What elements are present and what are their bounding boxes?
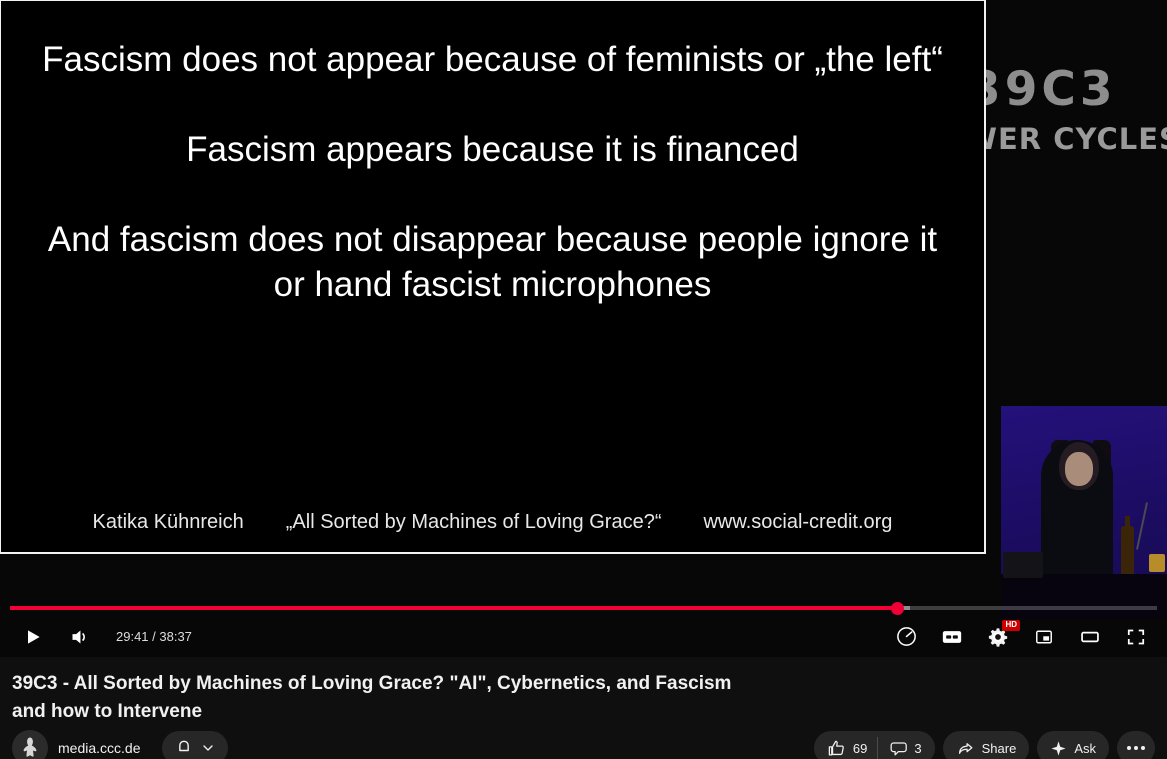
theater-mode-icon[interactable] — [1067, 616, 1113, 657]
ask-button[interactable]: Ask — [1037, 731, 1109, 759]
slide-footer-talk-title: „All Sorted by Machines of Loving Grace?… — [286, 511, 662, 534]
conference-motto: WER CYCLES — [965, 122, 1167, 156]
comment-bubble-icon[interactable] — [888, 739, 907, 758]
speaker-face — [1065, 452, 1093, 486]
slide-footer: Katika Kühnreich „All Sorted by Machines… — [1, 511, 984, 534]
bottle — [1121, 526, 1134, 578]
time-display: 29:41 / 38:37 — [102, 629, 202, 644]
hd-quality-badge: HD — [1002, 620, 1020, 631]
like-dislike-group[interactable]: 69 3 — [814, 731, 935, 759]
notification-bell-icon — [174, 738, 194, 758]
desk-badge — [1149, 554, 1165, 572]
video-player[interactable]: 39C3 WER CYCLES Fascism does not appear … — [0, 0, 1167, 657]
slide-paragraph-1: Fascism does not appear because of femin… — [41, 37, 944, 82]
progress-track[interactable] — [10, 606, 1157, 610]
captions-icon[interactable] — [929, 616, 975, 657]
more-actions-button[interactable] — [1117, 731, 1155, 759]
progress-bar[interactable] — [0, 600, 1167, 616]
settings-gear-icon[interactable]: HD — [975, 616, 1021, 657]
channel-info[interactable]: media.ccc.de — [12, 730, 140, 759]
fullscreen-icon[interactable] — [1113, 616, 1159, 657]
progress-played — [10, 606, 897, 610]
player-controls-left: 29:41 / 38:37 — [10, 616, 202, 657]
conference-logo-39c3: 39C3 — [968, 62, 1117, 117]
video-metadata-section: 39C3 - All Sorted by Machines of Loving … — [0, 662, 1167, 726]
presentation-slide: Fascism does not appear because of femin… — [0, 0, 986, 554]
slide-content: Fascism does not appear because of femin… — [1, 1, 984, 471]
youtube-watch-page: 39C3 WER CYCLES Fascism does not appear … — [0, 0, 1167, 759]
channel-avatar[interactable] — [12, 730, 48, 759]
laptop — [1003, 552, 1043, 578]
share-button[interactable]: Share — [943, 731, 1030, 759]
slide-footer-author: Katika Kühnreich — [93, 511, 244, 534]
player-control-bar: 29:41 / 38:37 — [0, 616, 1167, 657]
action-divider — [877, 737, 878, 759]
share-arrow-icon — [956, 739, 975, 758]
thumbs-up-icon[interactable] — [827, 739, 846, 758]
volume-button[interactable] — [56, 616, 102, 657]
ask-label: Ask — [1074, 741, 1096, 756]
video-action-row: media.ccc.de — [0, 728, 1167, 759]
more-horizontal-icon — [1127, 746, 1145, 750]
slide-paragraph-3: And fascism does not disappear because p… — [41, 217, 944, 307]
like-count: 69 — [853, 741, 867, 756]
progress-scrubber-handle[interactable] — [891, 602, 904, 615]
video-title: 39C3 - All Sorted by Machines of Loving … — [0, 662, 760, 726]
comment-count: 3 — [914, 741, 921, 756]
subscribed-button[interactable] — [162, 731, 228, 759]
speaker-camera-inset — [1001, 406, 1167, 618]
miniplayer-icon[interactable] — [1021, 616, 1067, 657]
slide-footer-website: www.social-credit.org — [703, 511, 892, 534]
chevron-down-icon — [200, 740, 216, 756]
playback-speed-icon[interactable] — [883, 616, 929, 657]
play-button[interactable] — [10, 616, 56, 657]
sparkle-icon — [1050, 740, 1067, 757]
slide-paragraph-2: Fascism appears because it is financed — [41, 127, 944, 172]
player-controls-right: HD — [883, 616, 1159, 657]
engagement-actions: 69 3 Share — [814, 731, 1155, 759]
share-label: Share — [982, 741, 1017, 756]
conference-logo-text: 39C3 — [968, 62, 1117, 117]
microphone-stand — [1136, 502, 1148, 549]
channel-name[interactable]: media.ccc.de — [58, 740, 140, 756]
